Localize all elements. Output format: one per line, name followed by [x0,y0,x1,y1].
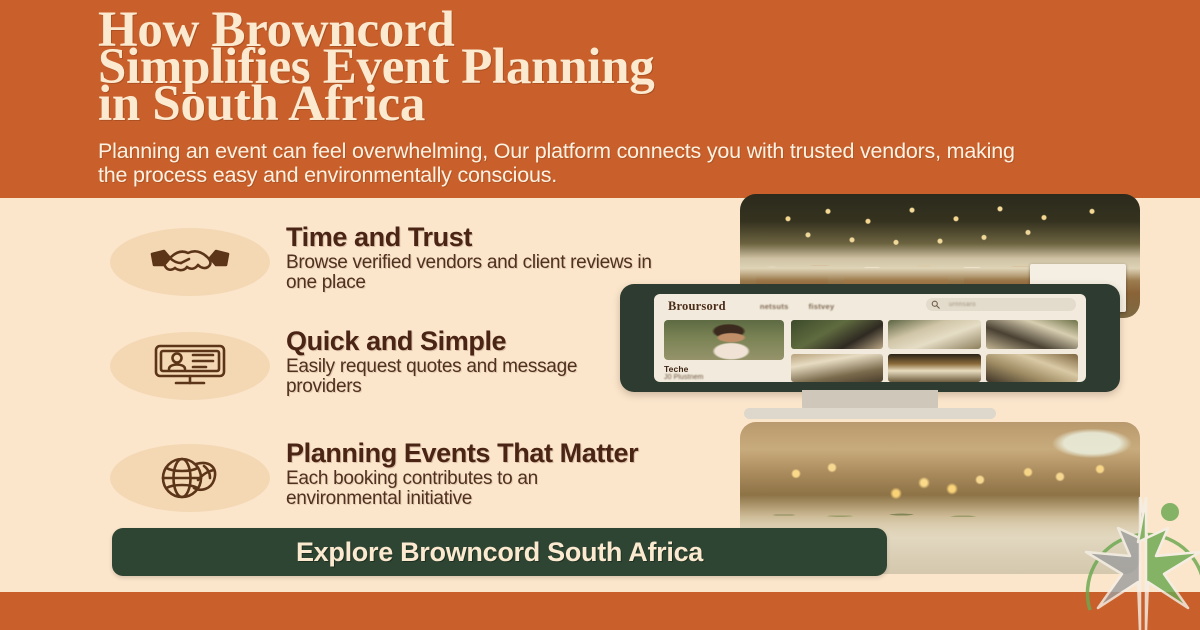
monitor-base [744,408,996,419]
feature-description: Easily request quotes and message provid… [286,357,656,398]
header: How Browncord Simplifies Event Planning … [98,12,1138,187]
feature-title: Time and Trust [286,224,656,251]
mockup-search-box[interactable]: urnnsaro [926,298,1076,311]
feature-item-planning-events-that-matter: Planning Events That Matter Each booking… [110,438,710,534]
mockup-grid-tile[interactable] [986,354,1078,383]
mockup-grid-tile[interactable] [888,354,980,383]
feature-description: Browse verified vendors and client revie… [286,253,656,294]
page-title: How Browncord Simplifies Event Planning … [98,12,1138,123]
feature-description: Each booking contributes to an environme… [286,469,656,510]
page-subtitle: Planning an event can feel overwhelming,… [98,140,1048,187]
explore-browncord-button-label: Explore Browncord South Africa [296,537,703,568]
mockup-nav-link-1[interactable]: netsuts [760,302,789,311]
monitor-profile-icon [110,332,270,400]
mockup-grid-tile[interactable] [888,320,980,349]
feature-list: Time and Trust Browse verified vendors a… [110,222,710,546]
handshake-icon [110,228,270,296]
globe-leaf-icon [110,444,270,512]
mockup-nav-links: netsuts fistvey [760,302,835,311]
mockup-grid-tile[interactable] [791,354,883,383]
mockup-navbar: Broursord netsuts fistvey urnnsaro [654,294,1086,318]
mockup-photo-grid [791,320,1078,382]
feature-item-quick-and-simple: Quick and Simple Easily request quotes a… [110,326,710,426]
feature-text: Time and Trust Browse verified vendors a… [270,222,656,294]
search-icon [931,296,940,314]
mockup-body: Teche J0 Plustnem Tuutsvg [664,320,1078,382]
explore-browncord-button[interactable]: Explore Browncord South Africa [112,528,887,576]
mockup-nav-link-2[interactable]: fistvey [809,302,835,311]
mockup-search-placeholder: urnnsaro [949,302,976,308]
mockup-grid-tile[interactable] [791,320,883,349]
feature-title: Quick and Simple [286,328,656,355]
footer-band [0,592,1200,630]
monitor-screen: Broursord netsuts fistvey urnnsaro [654,294,1086,382]
mockup-grid-tile[interactable] [986,320,1078,349]
feature-title: Planning Events That Matter [286,440,656,467]
feature-text: Quick and Simple Easily request quotes a… [270,326,656,398]
feature-item-time-and-trust: Time and Trust Browse verified vendors a… [110,222,710,314]
feature-text: Planning Events That Matter Each booking… [270,438,656,510]
